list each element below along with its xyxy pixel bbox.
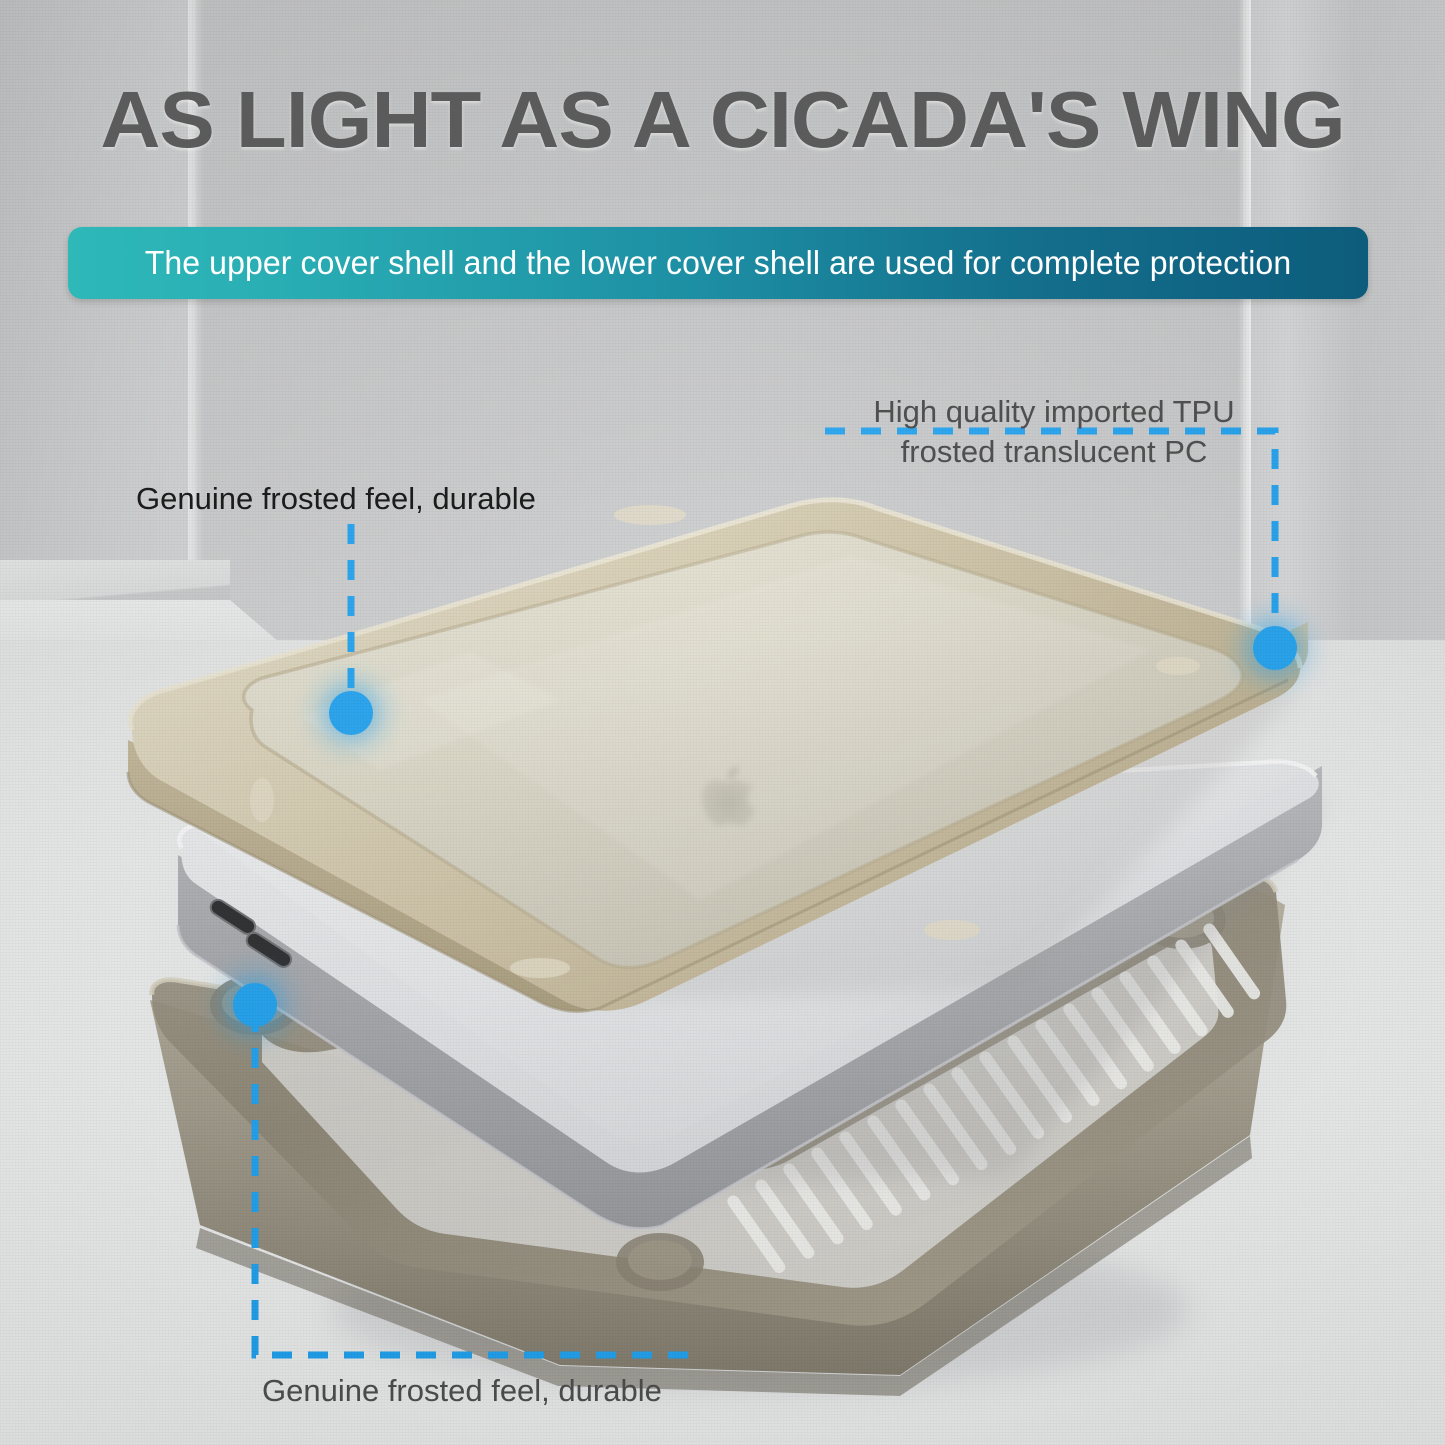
callout-overlay — [0, 0, 1445, 1445]
callout-label-left: Genuine frosted feel, durable — [136, 481, 536, 517]
callout-top-right-line1: High quality imported TPU — [834, 392, 1274, 432]
product-infographic: AS LIGHT AS A CICADA'S WING The upper co… — [0, 0, 1445, 1445]
callout-marker-left[interactable] — [321, 683, 381, 743]
callout-line-bottom — [255, 1012, 700, 1355]
callout-label-top-right: High quality imported TPU frosted transl… — [834, 392, 1274, 471]
subtitle-banner: The upper cover shell and the lower cove… — [68, 227, 1368, 299]
page-title: AS LIGHT AS A CICADA'S WING — [0, 74, 1445, 166]
callout-marker-top-right[interactable] — [1245, 618, 1305, 678]
subtitle-banner-text: The upper cover shell and the lower cove… — [145, 244, 1292, 282]
callout-top-right-line2: frosted translucent PC — [834, 432, 1274, 472]
callout-marker-bottom[interactable] — [225, 975, 285, 1035]
callout-label-bottom: Genuine frosted feel, durable — [262, 1373, 662, 1409]
